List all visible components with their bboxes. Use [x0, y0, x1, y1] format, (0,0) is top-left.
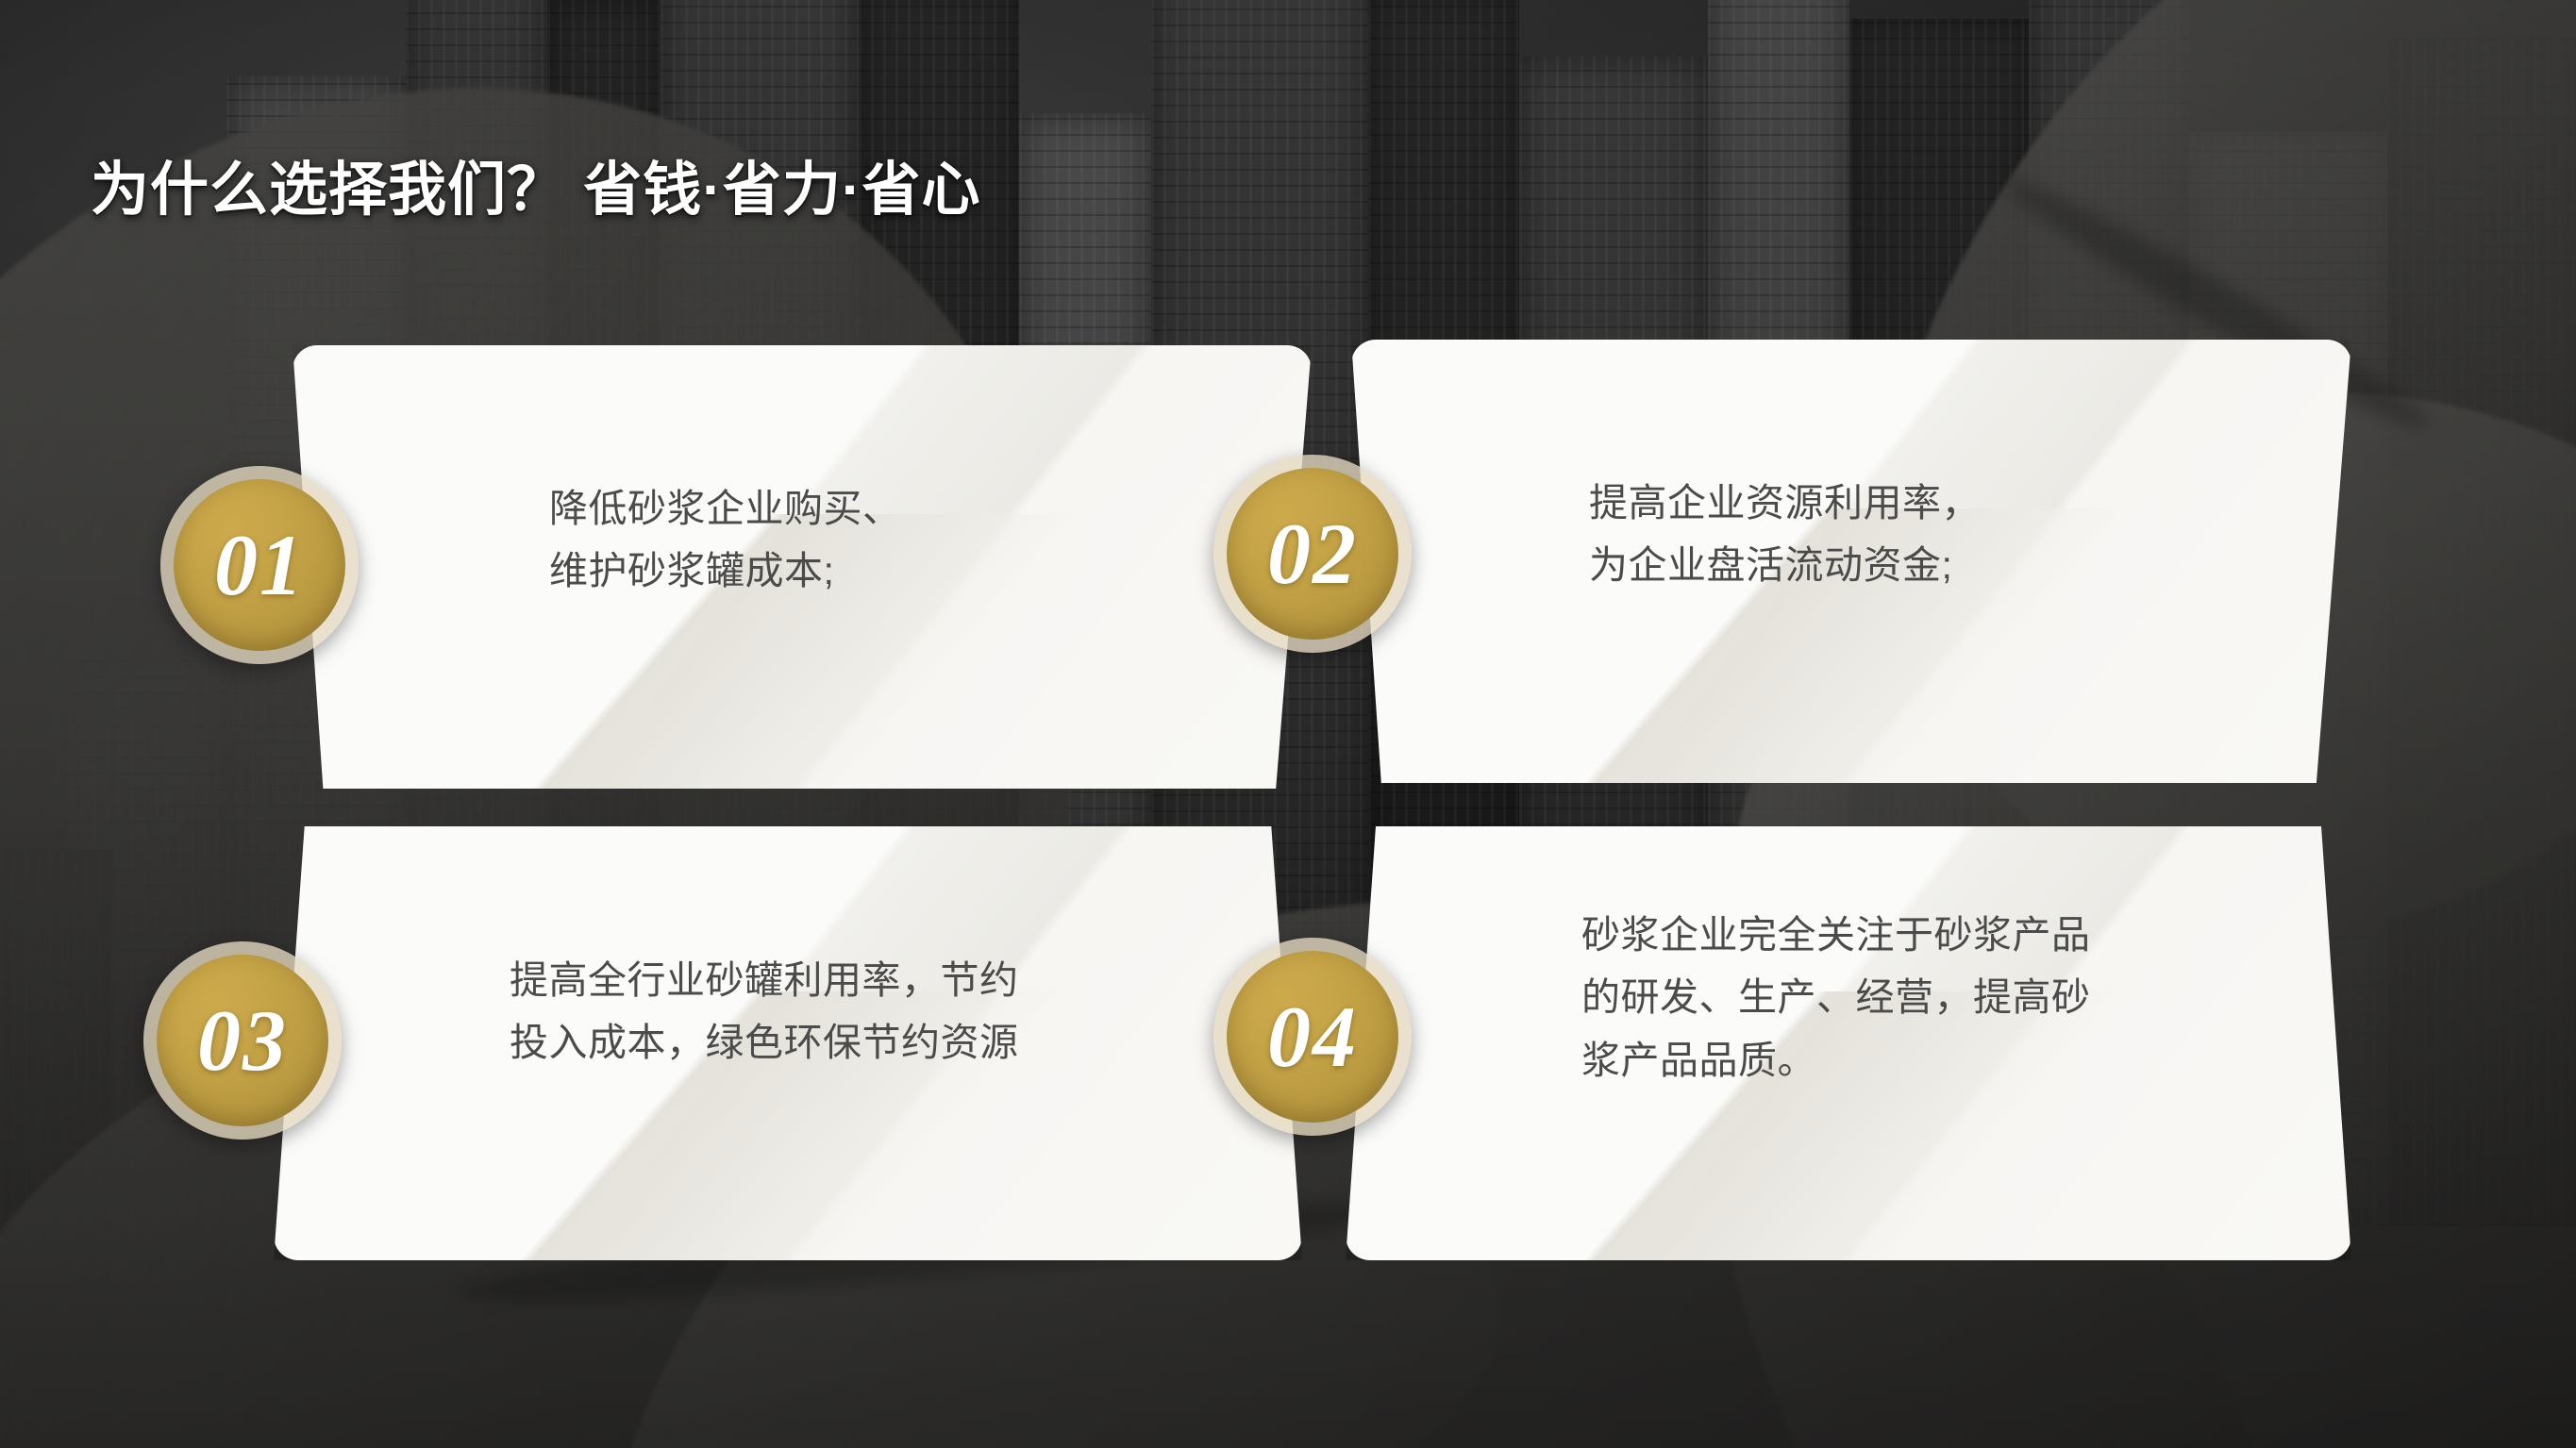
feature-card-04[interactable]: 砂浆企业完全关注于砂浆产品 的研发、生产、经营，提高砂 浆产品品质。 04: [1346, 826, 2351, 1260]
feature-card-02[interactable]: 提高企业资源利用率， 为企业盘活流动资金; 02: [1351, 340, 2351, 783]
feature-card-03[interactable]: 提高全行业砂罐利用率，节约 投入成本，绿色环保节约资源 03: [274, 826, 1302, 1260]
badge-number-text: 03: [197, 997, 288, 1084]
slide-canvas: 为什么选择我们？ 省钱·省力·省心 降低砂浆企业购买、 维护砂浆罐成本; 01 …: [0, 0, 2576, 1448]
badge-number-text: 04: [1267, 993, 1358, 1080]
card-number-badge: 01: [160, 466, 359, 664]
feature-card-01[interactable]: 降低砂浆企业购买、 维护砂浆罐成本; 01: [293, 345, 1312, 789]
card-description: 砂浆企业完全关注于砂浆产品 的研发、生产、经营，提高砂 浆产品品质。: [1581, 904, 2336, 1091]
badge-number-text: 02: [1267, 510, 1358, 597]
card-number-badge: 02: [1213, 455, 1412, 653]
card-number-badge: 04: [1213, 938, 1412, 1136]
badge-number-text: 01: [214, 522, 305, 608]
feature-card-grid: 降低砂浆企业购买、 维护砂浆罐成本; 01 提高企业资源利用率， 为企业盘活流动…: [0, 0, 2576, 1448]
card-description: 提高企业资源利用率， 为企业盘活流动资金;: [1589, 472, 2325, 597]
card-description: 提高全行业砂罐利用率，节约 投入成本，绿色环保节约资源: [510, 949, 1264, 1074]
card-number-badge: 03: [143, 941, 342, 1140]
card-description: 降低砂浆企业购买、 维护砂浆罐成本;: [549, 477, 1266, 603]
